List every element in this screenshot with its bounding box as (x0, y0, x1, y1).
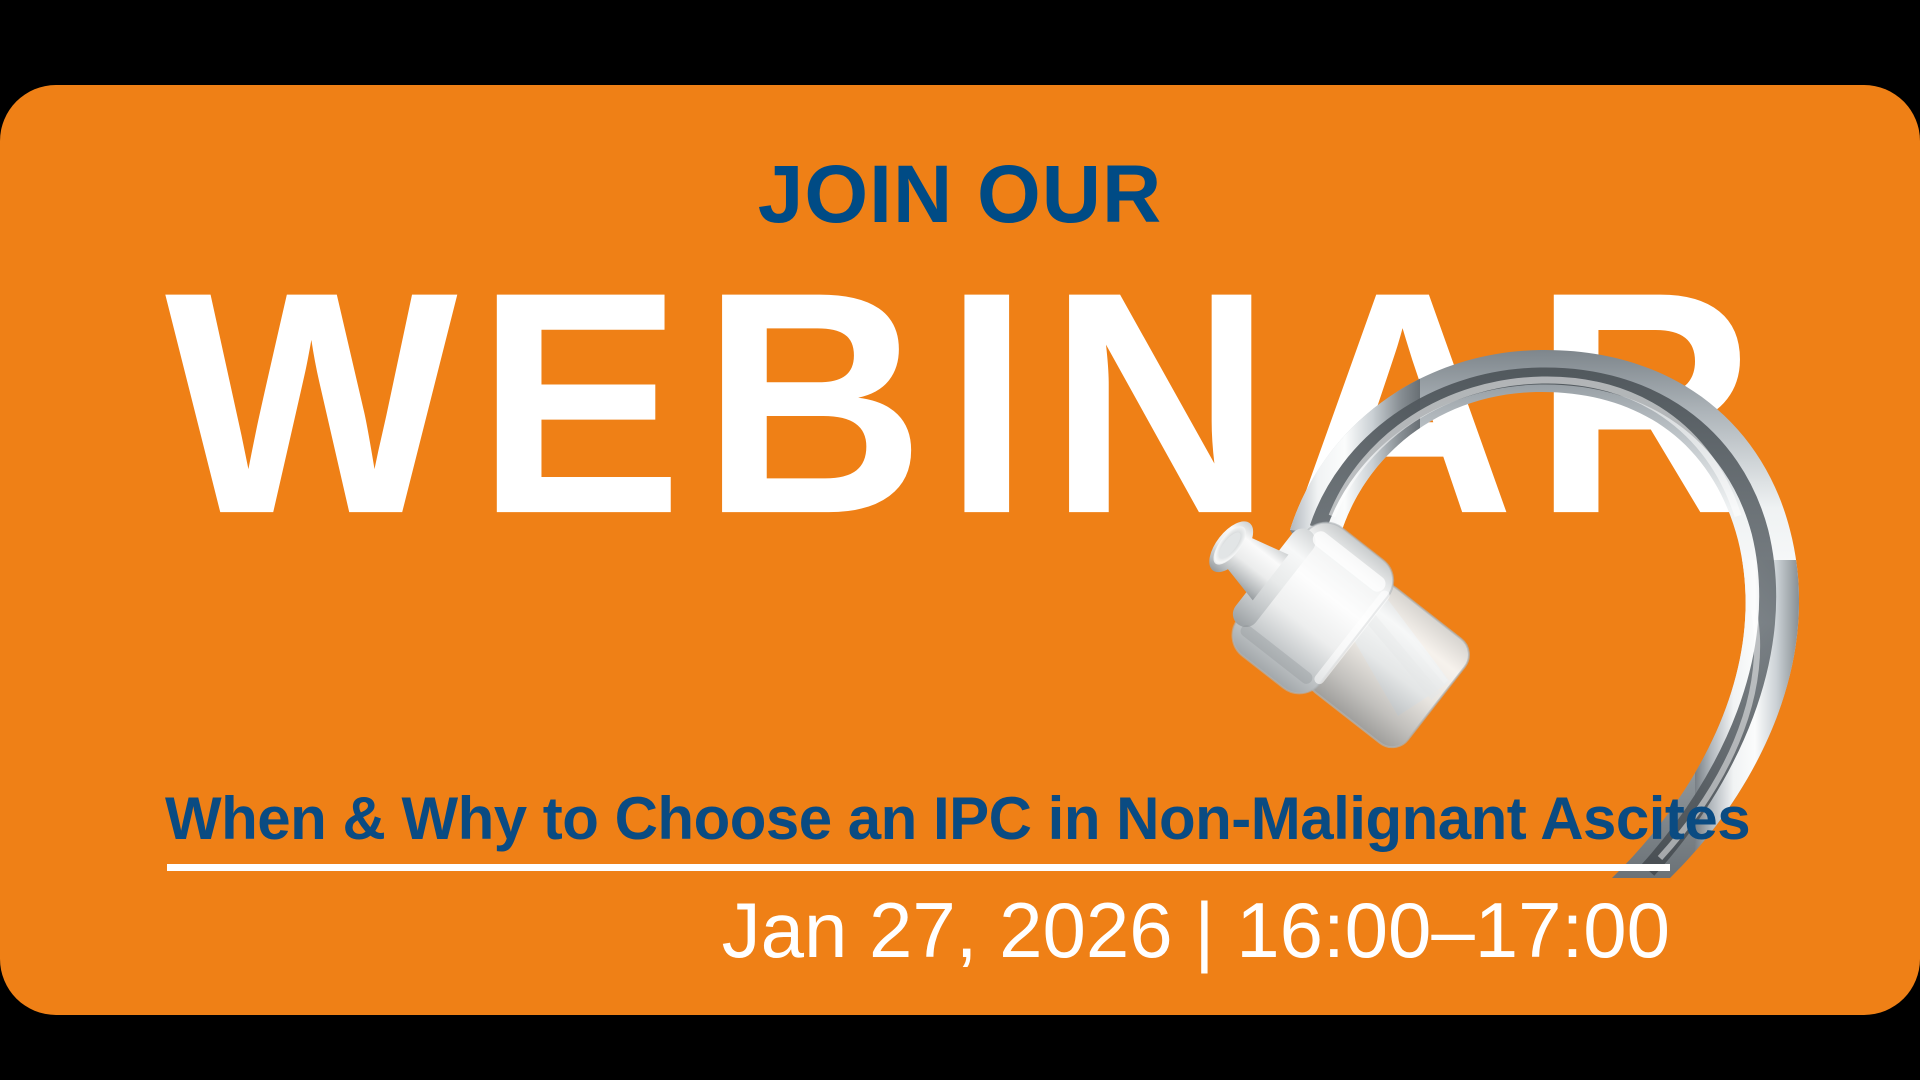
wordmark-letter: E (476, 272, 681, 532)
wordmark-letter: I (944, 272, 1028, 532)
wordmark-letter: R (1533, 272, 1755, 532)
wordmark-letter: B (701, 272, 923, 532)
wordmark-letter: A (1291, 272, 1513, 532)
event-datetime: Jan 27, 2026 | 16:00–17:00 (165, 885, 1670, 975)
divider-rule (167, 864, 1670, 871)
screenshot-canvas: JOIN OUR W E B I N A R (0, 0, 1920, 1080)
wordmark-webinar: W E B I N A R (165, 275, 1755, 530)
webinar-promo-card: JOIN OUR W E B I N A R (0, 85, 1920, 1015)
wordmark-letter: N (1048, 272, 1270, 532)
wordmark-letter: W (165, 272, 456, 532)
eyebrow-join-our: JOIN OUR (0, 154, 1920, 236)
webinar-subtitle: When & Why to Choose an IPC in Non-Malig… (165, 788, 1670, 850)
